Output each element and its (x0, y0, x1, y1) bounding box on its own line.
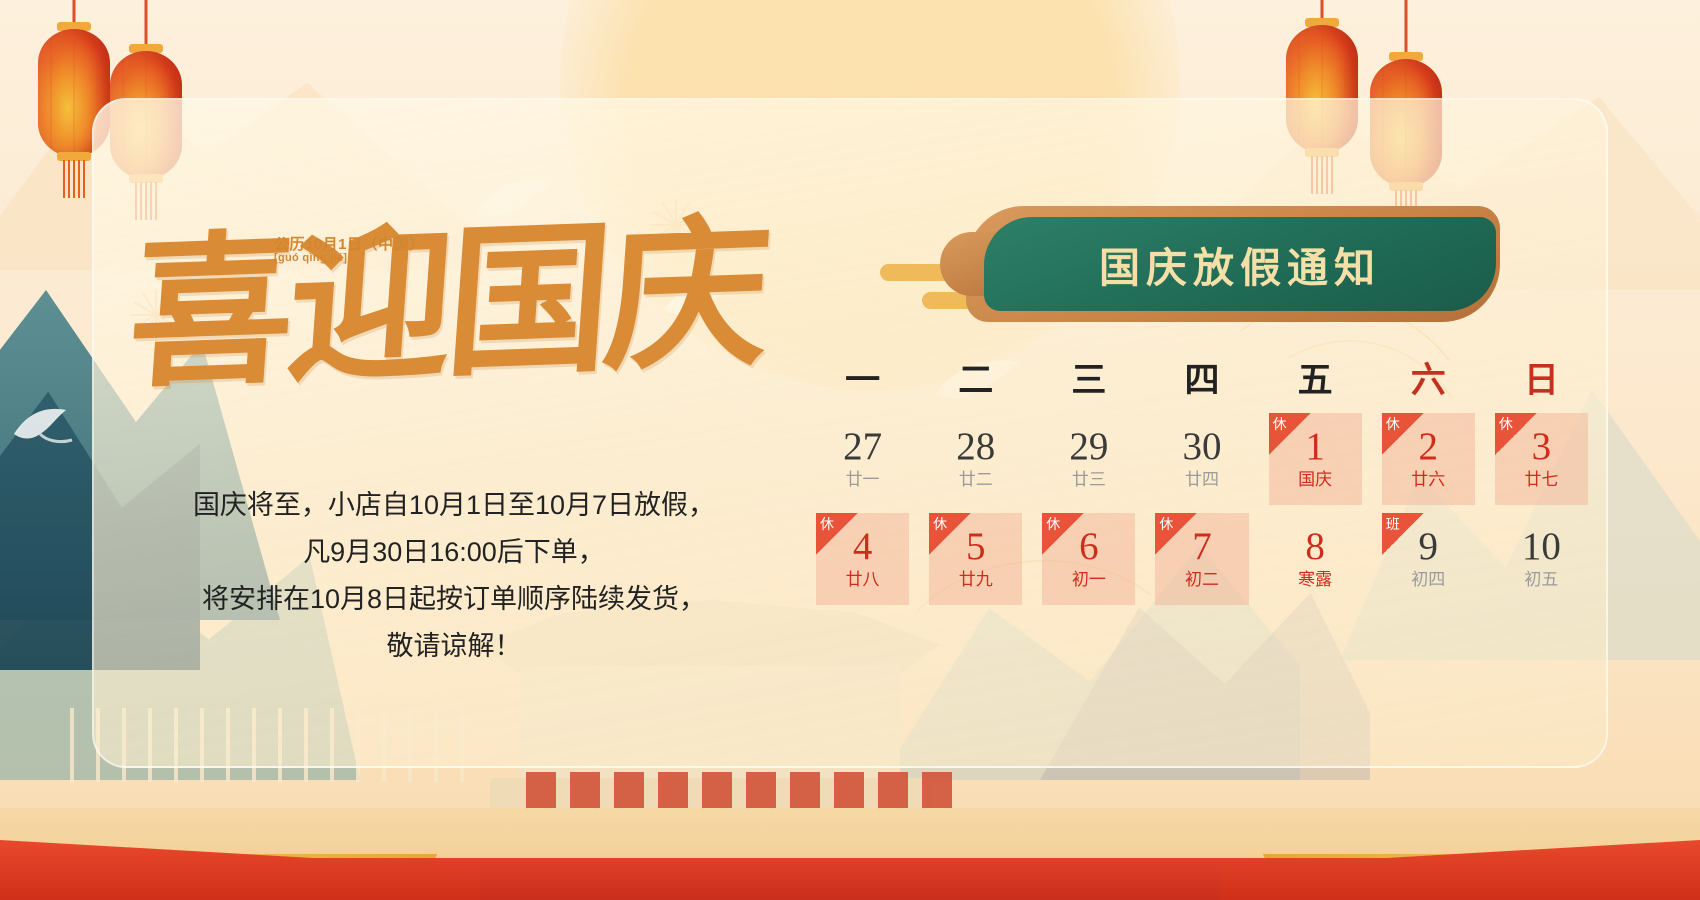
weekday-sun: 日 (1485, 352, 1598, 409)
pinyin-label: [guó qìng jié] (274, 252, 347, 264)
day-lunar-label: 廿九 (959, 568, 993, 592)
bottom-ribbon (0, 808, 1700, 900)
calendar-weekday-header: 一 二 三 四 五 六 日 (806, 352, 1598, 409)
calendar-day-cell[interactable]: 休3廿七 (1495, 413, 1588, 505)
day-lunar-label: 廿八 (846, 568, 880, 592)
day-number: 27 (843, 426, 882, 468)
calendar-day-cell[interactable]: 休6初一 (1042, 513, 1135, 605)
calendar-day-cell[interactable]: 休4廿八 (816, 513, 909, 605)
calendar-day-cell[interactable]: 休2廿六 (1382, 413, 1475, 505)
day-lunar-label: 初五 (1524, 568, 1558, 592)
notice-text-block: 国庆将至，小店自10月1日至10月7日放假， 凡9月30日16:00后下单， 将… (114, 482, 794, 670)
workday-badge: 班 (1382, 513, 1424, 555)
left-column: 喜迎国庆 公历10月1日（中国） [guó qìng jié] 国庆将至，小店自… (94, 100, 814, 768)
banner-title: 国庆放假通知 (1099, 234, 1381, 294)
calendar-day-cell[interactable]: 休7初二 (1155, 513, 1248, 605)
calendar-day-cell[interactable]: 班9初四 (1382, 513, 1475, 605)
poster-canvas: 喜迎国庆 公历10月1日（中国） [guó qìng jié] 国庆将至，小店自… (0, 0, 1700, 900)
calendar-day-cell[interactable]: 27廿一 (816, 413, 909, 505)
calendar-day-cell[interactable]: 8寒露 (1269, 513, 1362, 605)
banner-plaque: 国庆放假通知 (984, 217, 1496, 311)
notice-line: 凡9月30日16:00后下单， (114, 529, 794, 576)
weekday-fri: 五 (1259, 352, 1372, 409)
day-lunar-label: 廿七 (1524, 468, 1558, 492)
restday-badge: 休 (1042, 513, 1084, 555)
calendar-day-cell[interactable]: 28廿二 (929, 413, 1022, 505)
day-lunar-label: 廿一 (846, 468, 880, 492)
calendar-day-cell[interactable]: 休5廿九 (929, 513, 1022, 605)
calendar-day-cell[interactable]: 29廿三 (1042, 413, 1135, 505)
temple-windows (526, 772, 952, 812)
weekday-thu: 四 (1145, 352, 1258, 409)
day-lunar-label: 寒露 (1298, 568, 1332, 592)
day-lunar-label: 廿二 (959, 468, 993, 492)
calendar: 一 二 三 四 五 六 日 27廿一28廿二29廿三30廿四休1国庆休2廿六休3… (806, 352, 1598, 609)
weekday-sat: 六 (1372, 352, 1485, 409)
calendar-day-cell[interactable]: 10初五 (1495, 513, 1588, 605)
day-number: 30 (1182, 426, 1221, 468)
notice-line: 国庆将至，小店自10月1日至10月7日放假， (114, 482, 794, 529)
content-card: 喜迎国庆 公历10月1日（中国） [guó qìng jié] 国庆将至，小店自… (92, 98, 1608, 768)
calendar-day-cell[interactable]: 30廿四 (1155, 413, 1248, 505)
day-lunar-label: 初二 (1185, 568, 1219, 592)
right-column: 国庆放假通知 一 二 三 四 五 六 日 27廿一28廿二29廿三30廿四休1国… (794, 100, 1608, 768)
weekday-tue: 二 (919, 352, 1032, 409)
restday-badge: 休 (816, 513, 858, 555)
weekday-mon: 一 (806, 352, 919, 409)
restday-badge: 休 (1155, 513, 1197, 555)
weekday-wed: 三 (1032, 352, 1145, 409)
dove-icon (10, 400, 80, 450)
day-number: 28 (956, 426, 995, 468)
day-number: 29 (1069, 426, 1108, 468)
restday-badge: 休 (1269, 413, 1311, 455)
day-lunar-label: 廿六 (1411, 468, 1445, 492)
restday-badge: 休 (929, 513, 971, 555)
day-lunar-label: 国庆 (1298, 468, 1332, 492)
day-lunar-label: 初一 (1072, 568, 1106, 592)
day-lunar-label: 初四 (1411, 568, 1445, 592)
calendar-body: 27廿一28廿二29廿三30廿四休1国庆休2廿六休3廿七休4廿八休5廿九休6初一… (806, 409, 1598, 609)
day-number: 8 (1305, 526, 1325, 568)
day-lunar-label: 廿四 (1185, 468, 1219, 492)
day-number: 10 (1522, 526, 1561, 568)
restday-badge: 休 (1382, 413, 1424, 455)
calendar-row: 休4廿八休5廿九休6初一休7初二8寒露班9初四10初五 (806, 509, 1598, 609)
calendar-row: 27廿一28廿二29廿三30廿四休1国庆休2廿六休3廿七 (806, 409, 1598, 509)
restday-badge: 休 (1495, 413, 1537, 455)
page-title-calligraphy: 喜迎国庆 (120, 181, 759, 452)
notice-line: 将安排在10月8日起按订单顺序陆续发货， (114, 576, 794, 623)
notice-line: 敬请谅解！ (114, 623, 794, 670)
day-lunar-label: 廿三 (1072, 468, 1106, 492)
calendar-day-cell[interactable]: 休1国庆 (1269, 413, 1362, 505)
solar-date-label: 公历10月1日（中国） (274, 233, 425, 254)
banner: 国庆放假通知 (880, 206, 1500, 322)
